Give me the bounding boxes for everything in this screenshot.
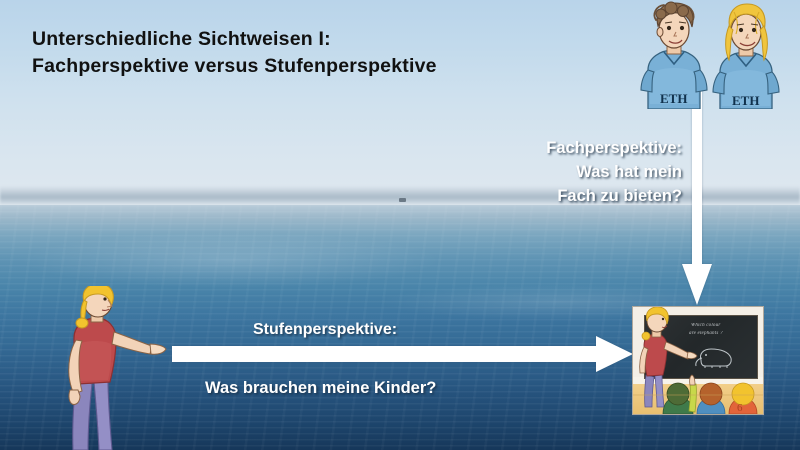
slide-title: Unterschiedliche Sichtweisen I: Fachpers… — [32, 26, 592, 80]
subject-perspective-text: Fachperspektive: Was hat mein Fach zu bi… — [546, 136, 682, 208]
students-canvas: ETH — [630, 0, 796, 109]
shirt-logo-right: ETH — [732, 93, 759, 108]
student-left: ETH — [641, 2, 707, 109]
student-right: ETH — [713, 4, 779, 109]
svg-text:6: 6 — [737, 402, 743, 414]
teacher-pointing-illustration — [60, 286, 168, 450]
shirt-logo-left: ETH — [660, 91, 687, 106]
students-drawing: ETH — [630, 0, 796, 109]
classroom-people-drawing: 6 — [633, 307, 763, 414]
presentation-slide: Unterschiedliche Sichtweisen I: Fachpers… — [0, 0, 800, 450]
two-students-illustration: ETH — [630, 0, 796, 109]
teacher-pointing-drawing — [60, 286, 168, 450]
distant-boat — [399, 198, 406, 202]
stage-perspective-question: Was brauchen meine Kinder? — [205, 376, 436, 400]
classroom-illustration: Which colour are elephants ? — [632, 306, 764, 415]
right-arrow — [172, 336, 634, 372]
down-arrow — [681, 78, 713, 306]
stage-perspective-label: Stufenperspektive: — [253, 318, 397, 342]
